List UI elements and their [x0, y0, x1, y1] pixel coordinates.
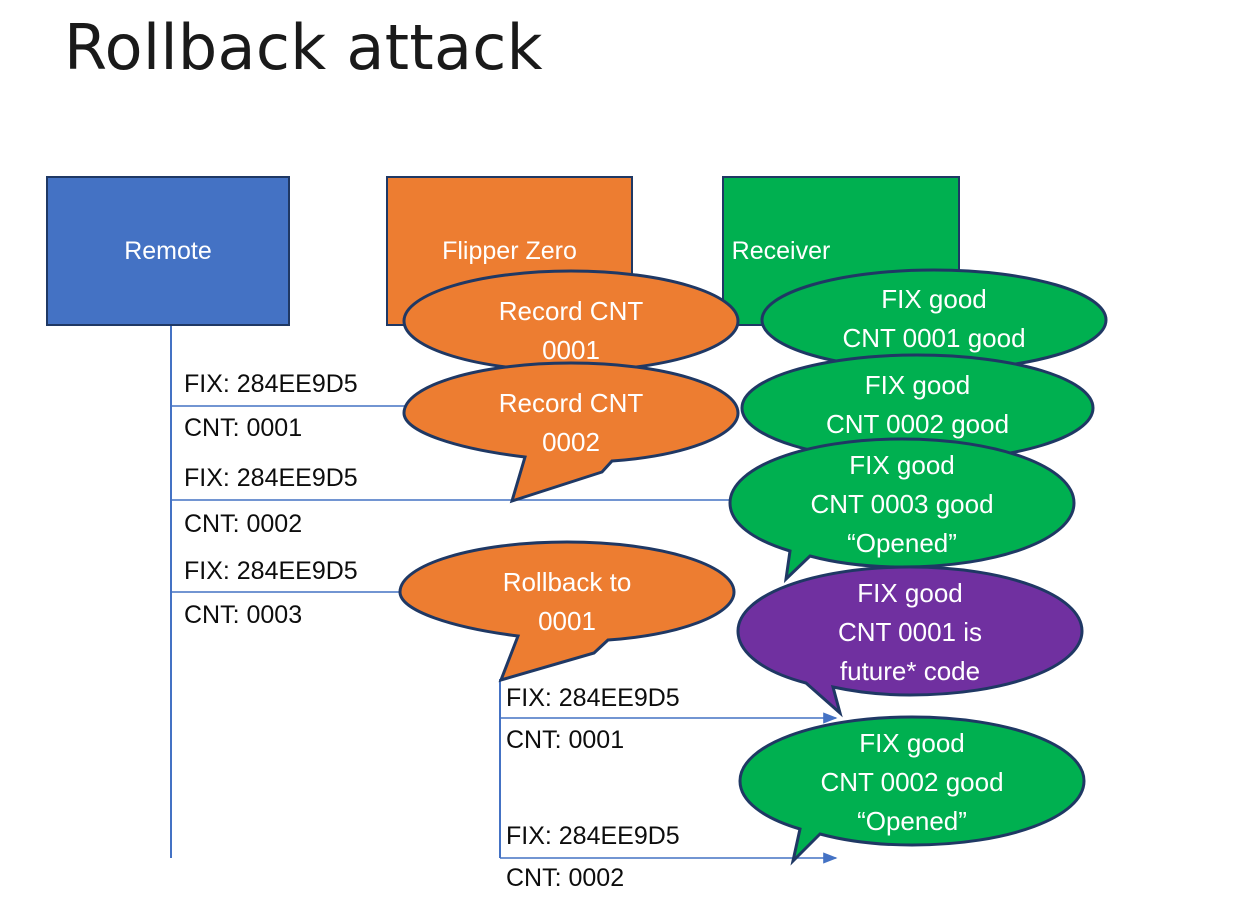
message-cnt-m5: CNT: 0002 [506, 864, 624, 893]
slide-canvas: Rollback attack Remote Flipper Zero Rece… [0, 0, 1233, 898]
callout-shape [402, 269, 740, 373]
callout-record-0002[interactable]: Record CNT 0002 [402, 361, 740, 506]
message-cnt-m3: CNT: 0003 [184, 601, 302, 630]
message-cnt-m1: CNT: 0001 [184, 414, 302, 443]
callout-record-0001[interactable]: Record CNT 0001 [402, 269, 740, 373]
lane-header-remote[interactable]: Remote [46, 176, 290, 326]
message-cnt-m4: CNT: 0001 [506, 726, 624, 755]
callout-rollback-0001[interactable]: Rollback to 0001 [398, 540, 736, 685]
callout-shape [738, 715, 1086, 875]
callout-shape [398, 540, 736, 685]
message-cnt-m2: CNT: 0002 [184, 510, 302, 539]
callout-shape [736, 565, 1084, 733]
message-fix-m2: FIX: 284EE9D5 [184, 464, 358, 493]
lane-label-flipper: Flipper Zero [388, 238, 631, 266]
callout-result-0002-opened[interactable]: FIX good CNT 0002 good “Opened” [738, 715, 1086, 875]
lane-label-receiver: Receiver [604, 238, 958, 266]
callout-shape [402, 361, 740, 506]
message-fix-m3: FIX: 284EE9D5 [184, 557, 358, 586]
message-fix-m4: FIX: 284EE9D5 [506, 684, 680, 713]
message-fix-m5: FIX: 284EE9D5 [506, 822, 680, 851]
message-fix-m1: FIX: 284EE9D5 [184, 370, 358, 399]
callout-future-code-alert[interactable]: FIX good CNT 0001 is future* code [736, 565, 1084, 733]
lane-label-remote: Remote [48, 238, 288, 266]
